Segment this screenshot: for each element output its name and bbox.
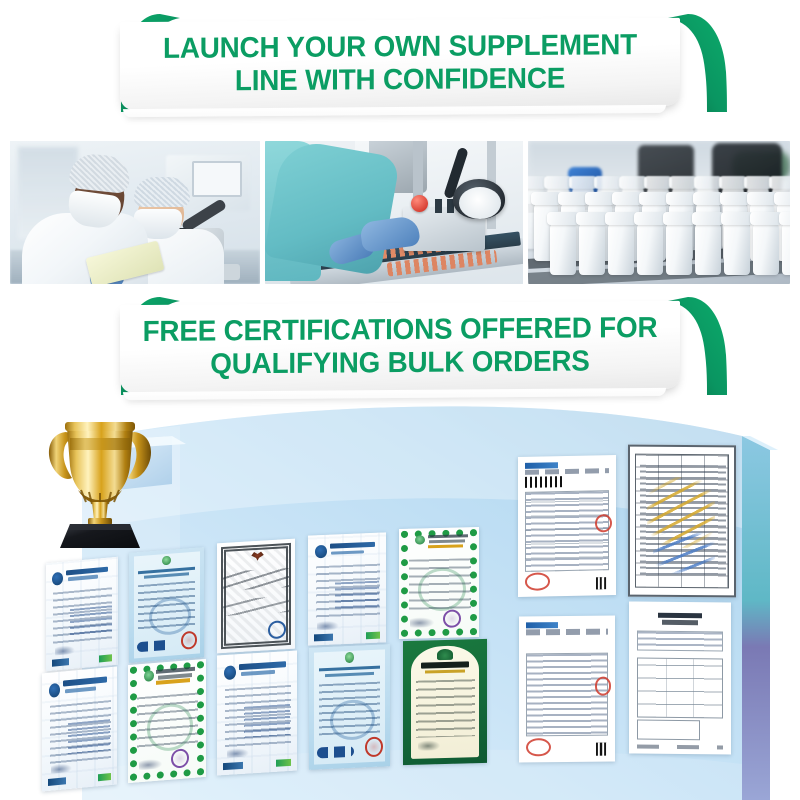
cert-conformity-4[interactable] xyxy=(217,650,297,775)
photo-lab-technicians xyxy=(10,141,260,284)
bottle-cap xyxy=(750,212,782,225)
bottle-cap xyxy=(544,176,572,189)
bottle-cap xyxy=(694,176,722,189)
emergency-stop-button-icon xyxy=(411,195,428,212)
cert-free-sale-1[interactable] xyxy=(129,547,204,663)
supplement-bottle xyxy=(782,223,790,275)
supplement-bottle xyxy=(608,223,634,275)
report-eurofins-2[interactable] xyxy=(519,615,615,762)
report-coa-1[interactable] xyxy=(629,601,731,754)
report-analysis-1[interactable] xyxy=(628,445,736,598)
bottle-cap xyxy=(669,176,697,189)
bottle-cap xyxy=(605,212,637,225)
bottle-cap xyxy=(720,192,750,205)
bottle-cap xyxy=(634,212,666,225)
supplement-bottle xyxy=(666,223,692,275)
cert-halal-dots-1[interactable] xyxy=(399,527,479,639)
launch-banner-title: LAUNCH YOUR OWN SUPPLEMENT LINE WITH CON… xyxy=(131,18,669,110)
cert-halal-green-1[interactable] xyxy=(403,639,487,765)
cert-eagle-1[interactable] xyxy=(217,539,295,654)
bottle-cap xyxy=(747,192,777,205)
award-trophy xyxy=(36,408,164,548)
launch-banner-line1: LAUNCH YOUR OWN SUPPLEMENT xyxy=(163,29,637,66)
bottle-cap xyxy=(779,212,790,225)
bottle-cap xyxy=(644,176,672,189)
bottle-cap xyxy=(666,192,696,205)
launch-banner: LAUNCH YOUR OWN SUPPLEMENT LINE WITH CON… xyxy=(0,14,800,132)
bottle-cap xyxy=(769,176,790,189)
certifications-banner-line1: FREE CERTIFICATIONS OFFERED FOR xyxy=(143,312,658,349)
supplement-bottle xyxy=(695,223,721,275)
bottle-cap xyxy=(744,176,772,189)
cert-conformity-2[interactable] xyxy=(308,532,386,645)
supplement-bottle xyxy=(637,223,663,275)
bottle-cap xyxy=(719,176,747,189)
bottle-cap xyxy=(619,176,647,189)
bottle-cap xyxy=(569,176,597,189)
supplement-bottle xyxy=(753,223,779,275)
photo-packaging-line xyxy=(265,141,523,284)
bottle-cap xyxy=(693,192,723,205)
bottle-cap xyxy=(612,192,642,205)
facility-photo-strip xyxy=(10,141,790,284)
bottle-cap xyxy=(585,192,615,205)
cert-conformity-3[interactable] xyxy=(42,666,117,791)
bottle-cap xyxy=(639,192,669,205)
bottle-cap xyxy=(663,212,695,225)
bottle-cap xyxy=(576,212,608,225)
certifications-banner-title: FREE CERTIFICATIONS OFFERED FOR QUALIFYI… xyxy=(131,301,669,393)
cert-conformity-1[interactable] xyxy=(46,557,118,672)
photo-bottle-filling xyxy=(528,141,790,284)
supplement-bottle xyxy=(724,223,750,275)
infographic-page: LAUNCH YOUR OWN SUPPLEMENT LINE WITH CON… xyxy=(0,0,800,800)
certifications-banner-line2: QUALIFYING BULK ORDERS xyxy=(210,346,589,382)
report-eurofins-1[interactable] xyxy=(518,455,616,597)
supplement-bottle xyxy=(579,223,605,275)
cert-halal-dots-2[interactable] xyxy=(128,659,206,783)
bottle-cap xyxy=(547,212,579,225)
bottle-cap xyxy=(558,192,588,205)
supplement-bottle xyxy=(550,223,576,275)
bottle-cap xyxy=(692,212,724,225)
cert-free-sale-2[interactable] xyxy=(309,644,390,770)
bottle-cap xyxy=(721,212,753,225)
launch-banner-line2: LINE WITH CONFIDENCE xyxy=(235,63,565,99)
bottle-cap xyxy=(594,176,622,189)
bottle-cap xyxy=(774,192,790,205)
bottle-cap xyxy=(531,192,561,205)
